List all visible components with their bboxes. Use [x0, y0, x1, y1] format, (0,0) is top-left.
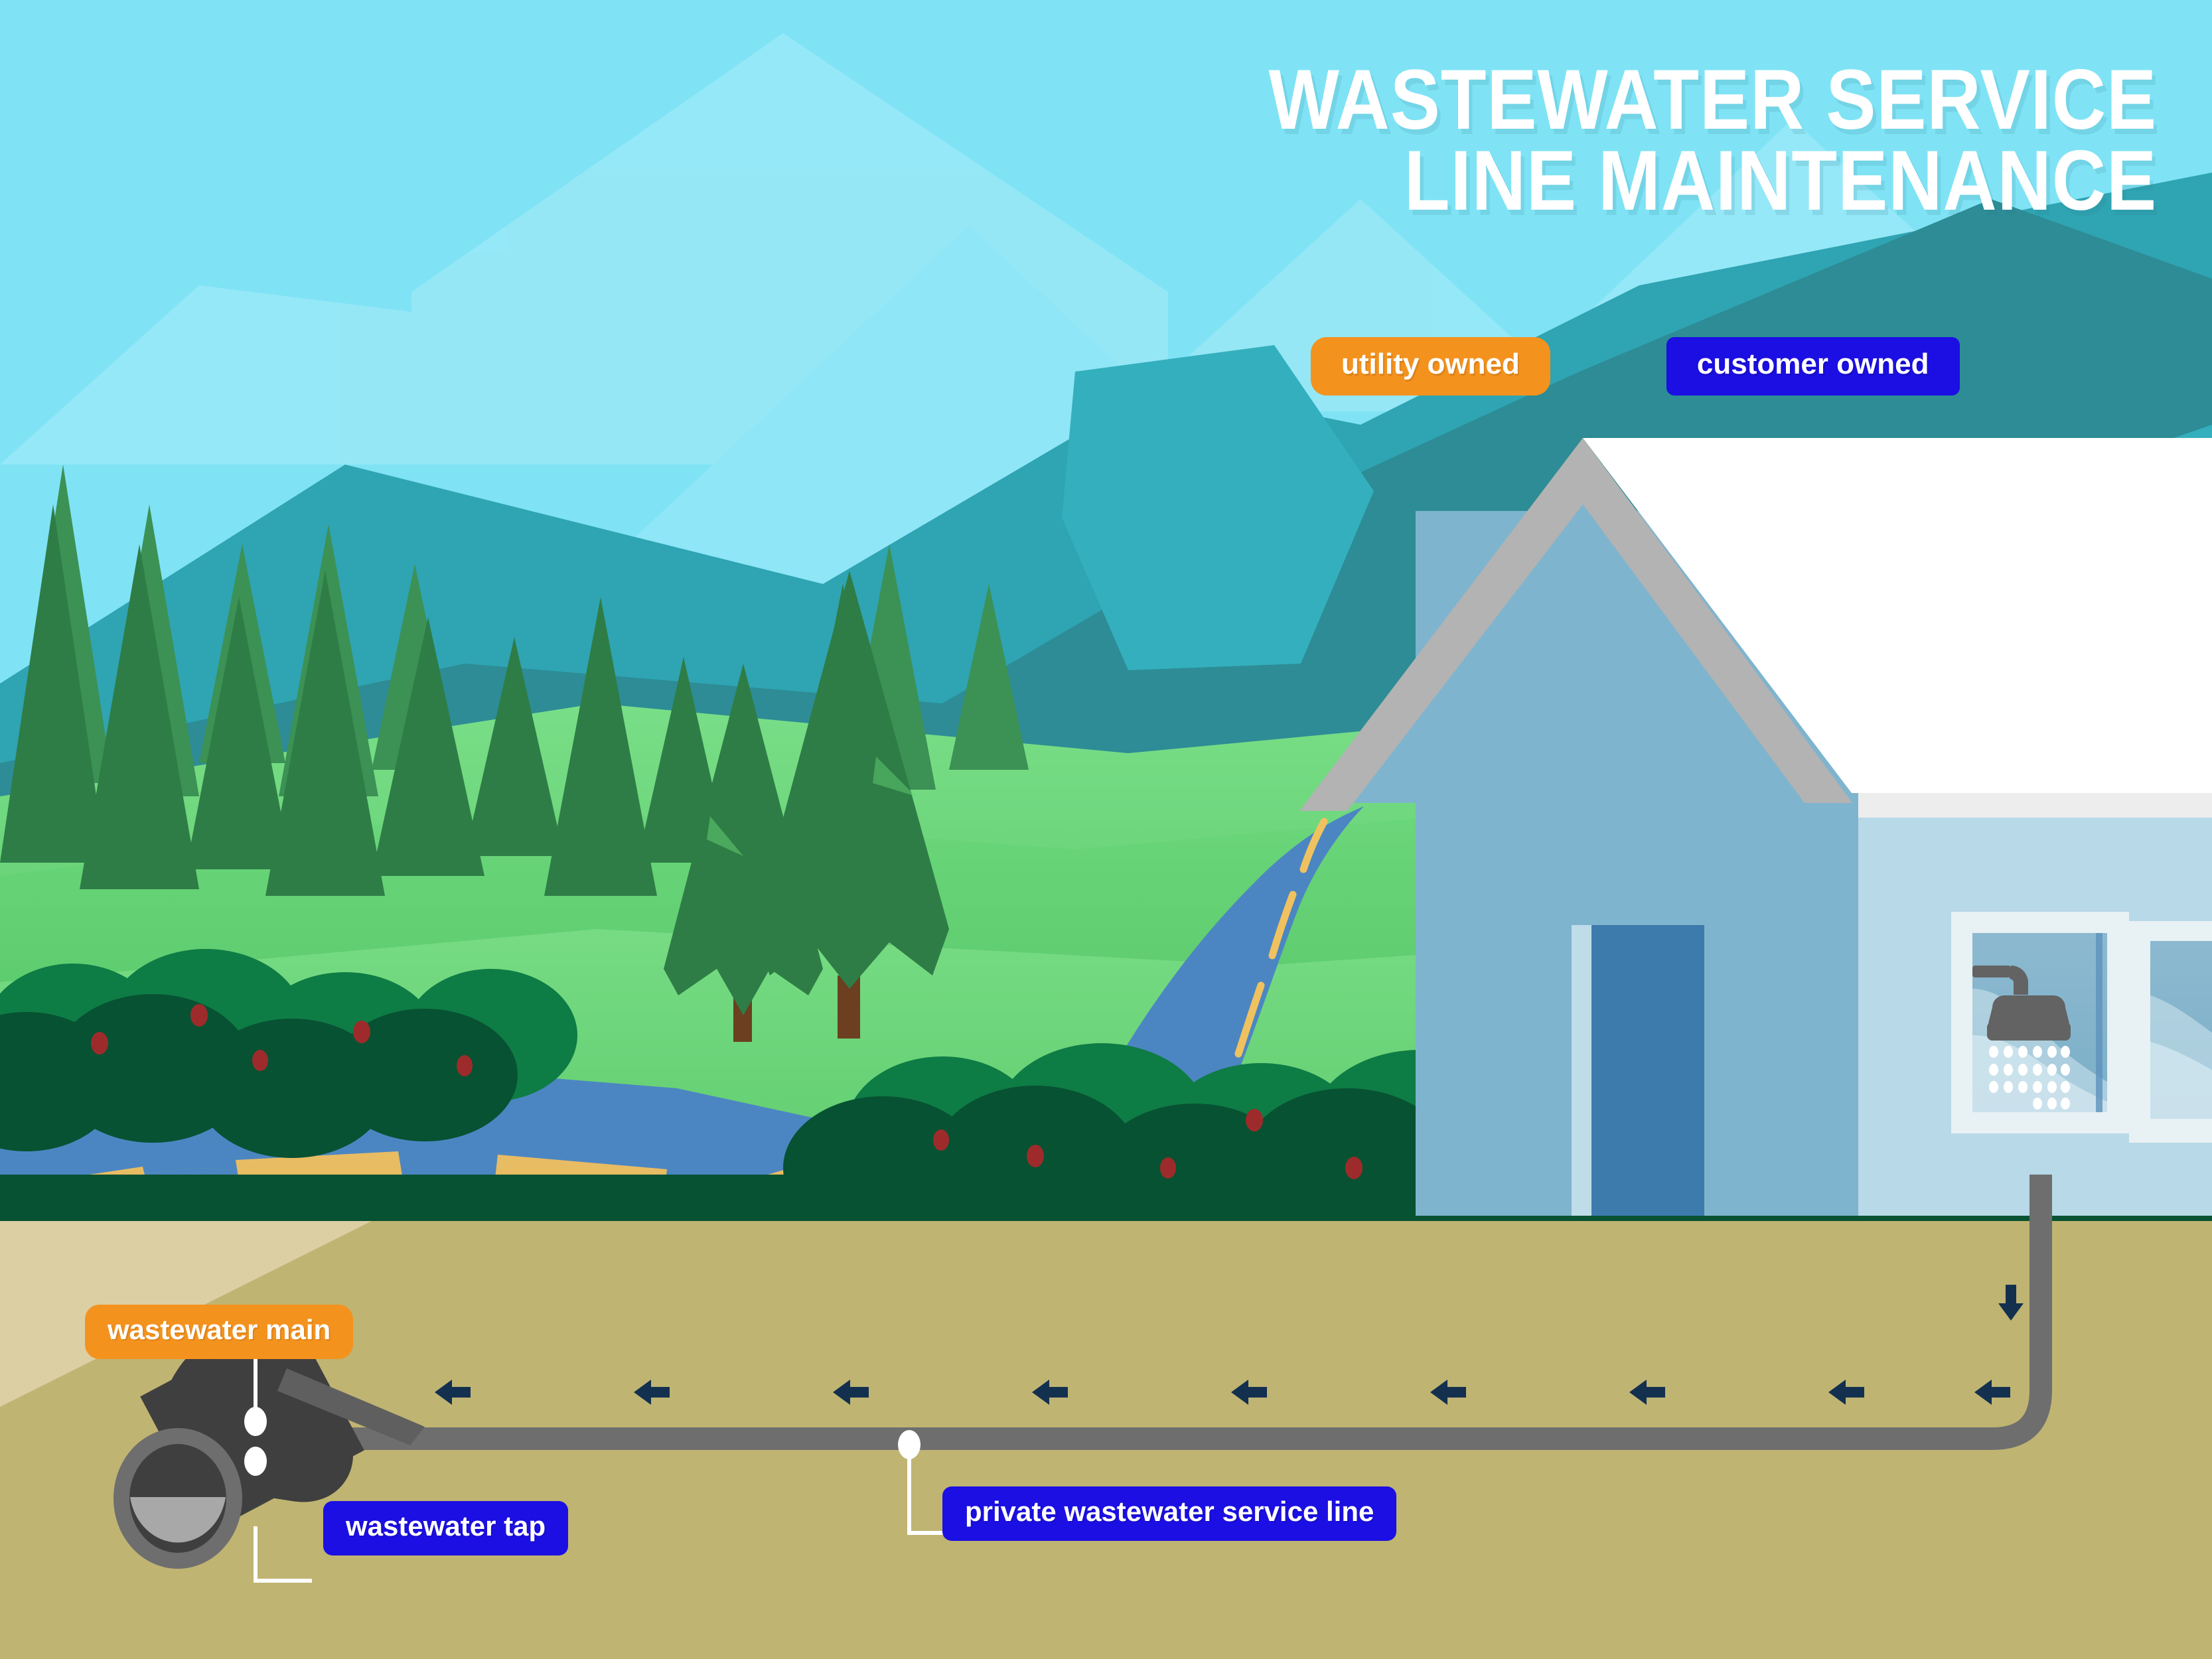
house [1299, 438, 2212, 1216]
callout-wastewater-main[interactable]: wastewater main [85, 1305, 353, 1359]
legend-badge-utility-owned[interactable]: utility owned [1311, 337, 1550, 396]
ownership-legend: utility owned customer owned [1311, 337, 1960, 396]
landscape-illustration [0, 0, 2212, 1659]
leader-dot-tap [244, 1447, 267, 1476]
house-eave [1845, 790, 2212, 818]
door [1591, 925, 1704, 1216]
leader-dot-line [898, 1430, 921, 1459]
callout-private-wastewater-service-line[interactable]: private wastewater service line [942, 1486, 1396, 1541]
legend-badge-customer-owned[interactable]: customer owned [1666, 337, 1960, 396]
infographic-canvas: WASTEWATER SERVICE LINE MAINTENANCE util… [0, 0, 2212, 1659]
leader-dot-main [244, 1407, 267, 1436]
callout-wastewater-tap[interactable]: wastewater tap [323, 1501, 568, 1555]
door-frame [1572, 925, 1591, 1216]
